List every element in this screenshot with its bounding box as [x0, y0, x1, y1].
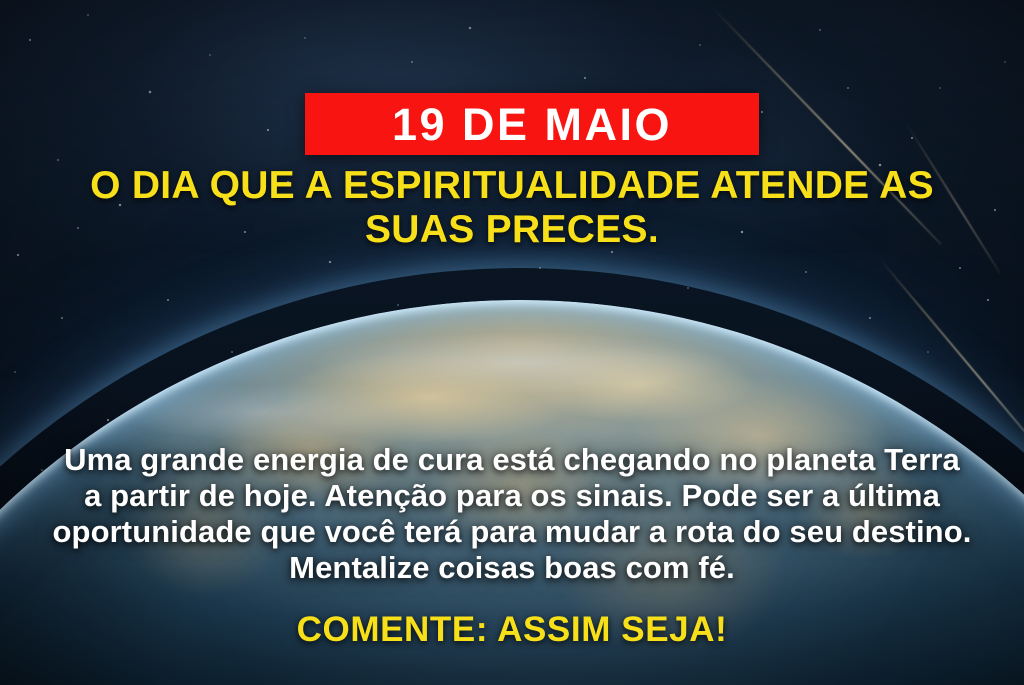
call-to-action-text: COMENTE: ASSIM SEJA!	[0, 612, 1024, 647]
date-banner-label: 19 DE MAIO	[392, 102, 672, 147]
date-banner: 19 DE MAIO	[305, 93, 759, 155]
poster-content: 19 DE MAIO O DIA QUE A ESPIRITUALIDADE A…	[0, 0, 1024, 685]
headline-text: O DIA QUE A ESPIRITUALIDADE ATENDE AS SU…	[0, 164, 1024, 251]
body-paragraph: Uma grande energia de cura está chegando…	[0, 442, 1024, 586]
poster-canvas: 19 DE MAIO O DIA QUE A ESPIRITUALIDADE A…	[0, 0, 1024, 685]
